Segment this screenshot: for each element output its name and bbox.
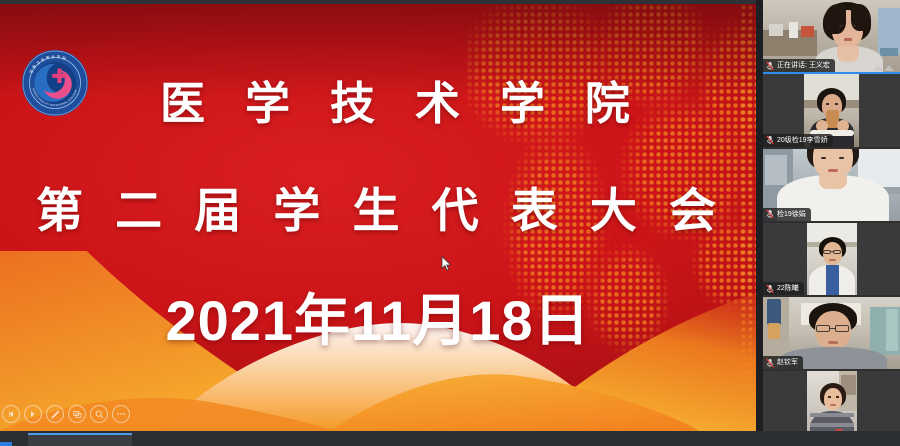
mic-muted-icon (766, 61, 774, 71)
all-slides-button[interactable] (68, 405, 86, 423)
participant-video (807, 223, 857, 295)
title1-char: 技 (330, 81, 375, 126)
pen-tool-button[interactable] (46, 405, 64, 423)
slide-title-line2: 第 二 届 学 生 代 表 大 会 (36, 179, 716, 241)
title2-char: 届 (194, 187, 241, 234)
participant-filmstrip[interactable]: 正在讲话: 王义宏 (763, 0, 900, 446)
title2-char: 学 (273, 187, 320, 234)
participant-name-bar: 22陈曦 (763, 282, 804, 295)
participant-tile[interactable]: 22陈曦 (763, 223, 900, 297)
participant-name: 20级检19李雪娇 (777, 137, 828, 144)
title2-char: 会 (669, 187, 716, 234)
slide-date-text: 2021年11月18日 (0, 276, 756, 357)
taskbar-accent (0, 442, 12, 446)
participant-tile[interactable]: 正在讲话: 王义宏 (763, 0, 900, 74)
title1-char: 院 (585, 81, 630, 126)
college-logo: 甘肃卫生职业学院 GANSU HEALTH VOCATIONAL COLLEGE (20, 48, 90, 118)
title1-char: 术 (415, 81, 460, 126)
title1-char: 学 (245, 81, 290, 126)
previous-slide-button[interactable] (2, 405, 20, 423)
mouse-pointer (441, 256, 452, 272)
participant-name-bar: 检19徐娟 (763, 208, 811, 221)
title2-char: 第 (36, 187, 83, 234)
participant-name: 22陈曦 (777, 285, 799, 292)
mic-muted-icon (766, 284, 774, 294)
taskbar-active-window[interactable] (28, 433, 132, 446)
participant-name: 赵钦军 (777, 359, 798, 366)
title2-char: 代 (432, 187, 479, 234)
stage-filmstrip-divider (756, 0, 763, 446)
participant-tile[interactable]: 20级检19李雪娇 (763, 74, 900, 148)
participant-tile[interactable]: 检19徐娟 (763, 149, 900, 223)
title2-char: 二 (115, 187, 162, 234)
mic-muted-icon (766, 209, 774, 219)
speaking-indicator (873, 65, 894, 71)
title2-char: 表 (511, 187, 558, 234)
next-slide-button[interactable] (24, 405, 42, 423)
participant-name-bar: 20级检19李雪娇 (763, 134, 833, 147)
participant-name: 正在讲话: 王义宏 (777, 62, 830, 69)
mic-muted-icon (766, 358, 774, 368)
mic-muted-icon (766, 135, 774, 145)
screen-root: 甘肃卫生职业学院 GANSU HEALTH VOCATIONAL COLLEGE… (0, 0, 900, 446)
more-options-button[interactable] (112, 405, 130, 423)
taskbar[interactable] (0, 431, 900, 446)
slideshow-toolbar[interactable] (2, 405, 130, 423)
title2-char: 生 (353, 187, 400, 234)
slide-title-line1: 医 学 技 术 学 院 (160, 72, 630, 134)
zoom-button[interactable] (90, 405, 108, 423)
title2-char: 大 (590, 187, 637, 234)
participant-name-bar: 赵钦军 (763, 356, 803, 369)
participant-name: 检19徐娟 (777, 211, 806, 218)
title1-char: 学 (500, 81, 545, 126)
participant-tile[interactable]: 赵钦军 (763, 297, 900, 371)
presentation-stage[interactable]: 甘肃卫生职业学院 GANSU HEALTH VOCATIONAL COLLEGE… (0, 4, 756, 431)
participant-name-bar: 正在讲话: 王义宏 (763, 59, 835, 72)
title1-char: 医 (160, 81, 205, 126)
